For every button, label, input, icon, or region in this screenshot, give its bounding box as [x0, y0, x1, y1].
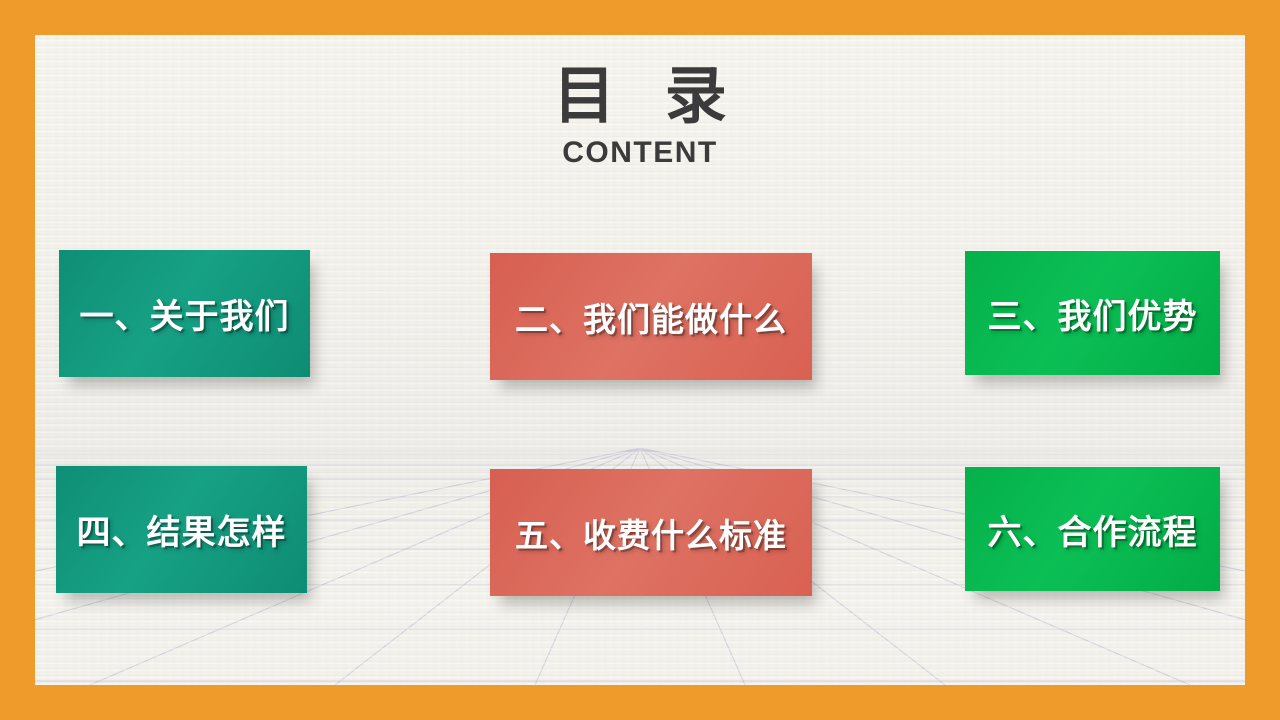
page-title-block: 目 录 CONTENT	[35, 63, 1245, 170]
content-item-2-label: 二、我们能做什么	[490, 293, 812, 341]
content-item-3-label: 三、我们优势	[965, 289, 1220, 338]
content-item-3[interactable]: 三、我们优势	[965, 251, 1220, 375]
content-item-5-label: 五、收费什么标准	[490, 509, 812, 557]
content-item-5[interactable]: 五、收费什么标准	[490, 469, 812, 596]
content-item-6[interactable]: 六、合作流程	[965, 467, 1220, 591]
content-item-1[interactable]: 一、关于我们	[59, 250, 310, 377]
content-item-6-label: 六、合作流程	[965, 505, 1220, 554]
content-item-4[interactable]: 四、结果怎样	[56, 466, 307, 593]
content-item-4-label: 四、结果怎样	[56, 505, 307, 554]
page-subtitle: CONTENT	[35, 136, 1245, 170]
slide-content-area: 目 录 CONTENT 一、关于我们 二、我们能做什么 三、我们优势 四、结果怎…	[35, 35, 1245, 685]
slide-canvas: 目 录 CONTENT 一、关于我们 二、我们能做什么 三、我们优势 四、结果怎…	[0, 0, 1280, 720]
page-title: 目 录	[35, 63, 1245, 130]
content-item-1-label: 一、关于我们	[59, 289, 310, 338]
content-item-2[interactable]: 二、我们能做什么	[490, 253, 812, 380]
